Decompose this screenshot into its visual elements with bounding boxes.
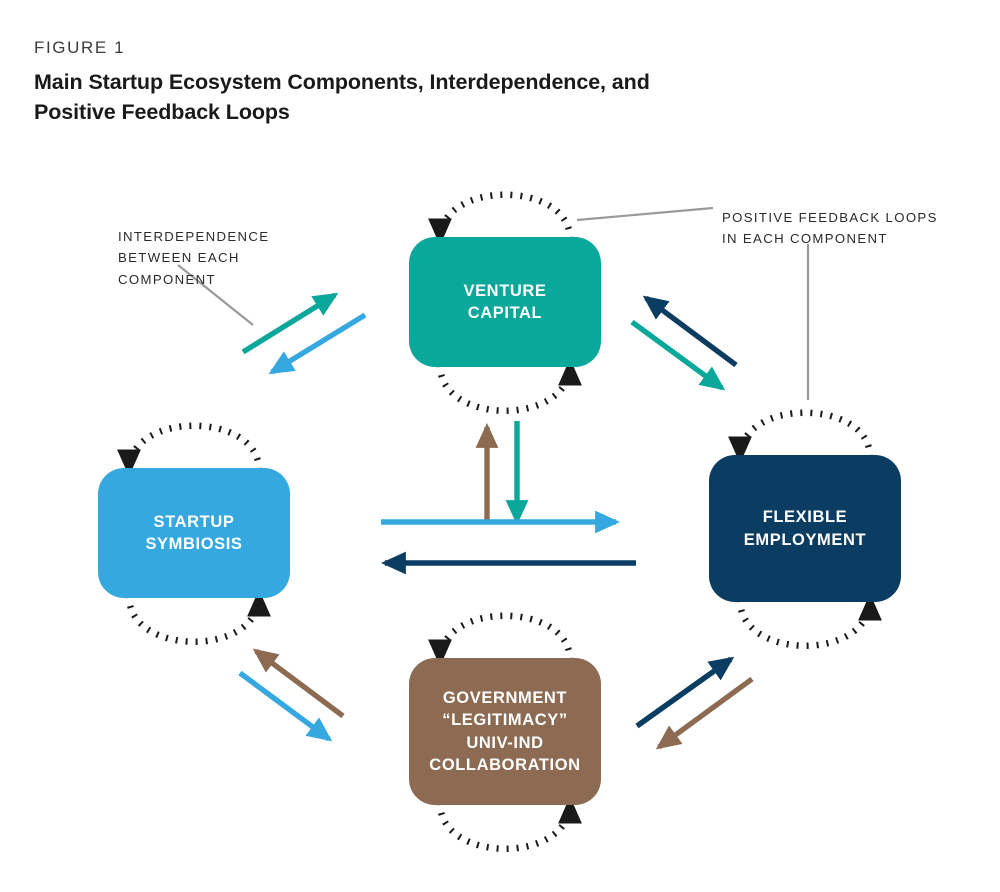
loop-arc-bottom — [440, 803, 570, 849]
loop-arc-top — [440, 195, 570, 239]
loop-arc-top — [440, 616, 570, 660]
figure-root: FIGURE 1 Main Startup Ecosystem Componen… — [0, 0, 1000, 892]
loop-arc-top — [129, 426, 259, 470]
node-startup-symbiosis[interactable]: STARTUP SYMBIOSIS — [98, 468, 290, 598]
node-label-venture-capital: VENTURE CAPITAL — [463, 280, 546, 325]
arrow-pair-vertical-center — [487, 421, 517, 524]
arrow-flexible-to-government — [659, 679, 752, 747]
figure-number: FIGURE 1 — [34, 38, 774, 58]
node-flexible-employment[interactable]: FLEXIBLE EMPLOYMENT — [709, 455, 901, 602]
arrow-government-to-flexible — [637, 659, 731, 726]
loop-arc-bottom — [129, 596, 259, 642]
annotation-interdependence: INTERDEPENDENCE BETWEEN EACH COMPONENT — [118, 226, 358, 290]
node-label-startup-symbiosis: STARTUP SYMBIOSIS — [145, 511, 242, 556]
node-venture-capital[interactable]: VENTURE CAPITAL — [409, 237, 601, 367]
arrow-startup-to-government — [240, 673, 329, 739]
loop-arc-bottom — [440, 365, 570, 411]
arrow-pair-startup-vc — [243, 295, 365, 372]
loop-arc-top — [740, 413, 870, 457]
arrow-vc-to-flexible — [632, 322, 722, 388]
node-label-flexible-employment: FLEXIBLE EMPLOYMENT — [744, 506, 866, 551]
arrow-flexible-to-vc — [646, 298, 736, 365]
diagram-canvas: VENTURE CAPITAL STARTUP SYMBIOSIS FLEXIB… — [0, 150, 1000, 892]
figure-title: Main Startup Ecosystem Components, Inter… — [34, 68, 714, 126]
arrow-pair-government-startup — [240, 651, 343, 739]
node-government[interactable]: GOVERNMENT “LEGITIMACY” UNIV-IND COLLABO… — [409, 658, 601, 805]
figure-header: FIGURE 1 Main Startup Ecosystem Componen… — [34, 38, 774, 127]
loop-arc-bottom — [740, 600, 870, 646]
annotation-positive-feedback: POSITIVE FEEDBACK LOOPS IN EACH COMPONEN… — [722, 207, 992, 250]
arrow-government-to-startup — [256, 651, 343, 716]
leader-line-feedback-top — [577, 208, 713, 220]
arrow-pair-vc-flexible — [632, 298, 736, 388]
arrow-pair-horizontal-center — [381, 522, 636, 563]
arrow-pair-government-flexible — [637, 659, 752, 747]
node-label-government: GOVERNMENT “LEGITIMACY” UNIV-IND COLLABO… — [429, 687, 580, 776]
